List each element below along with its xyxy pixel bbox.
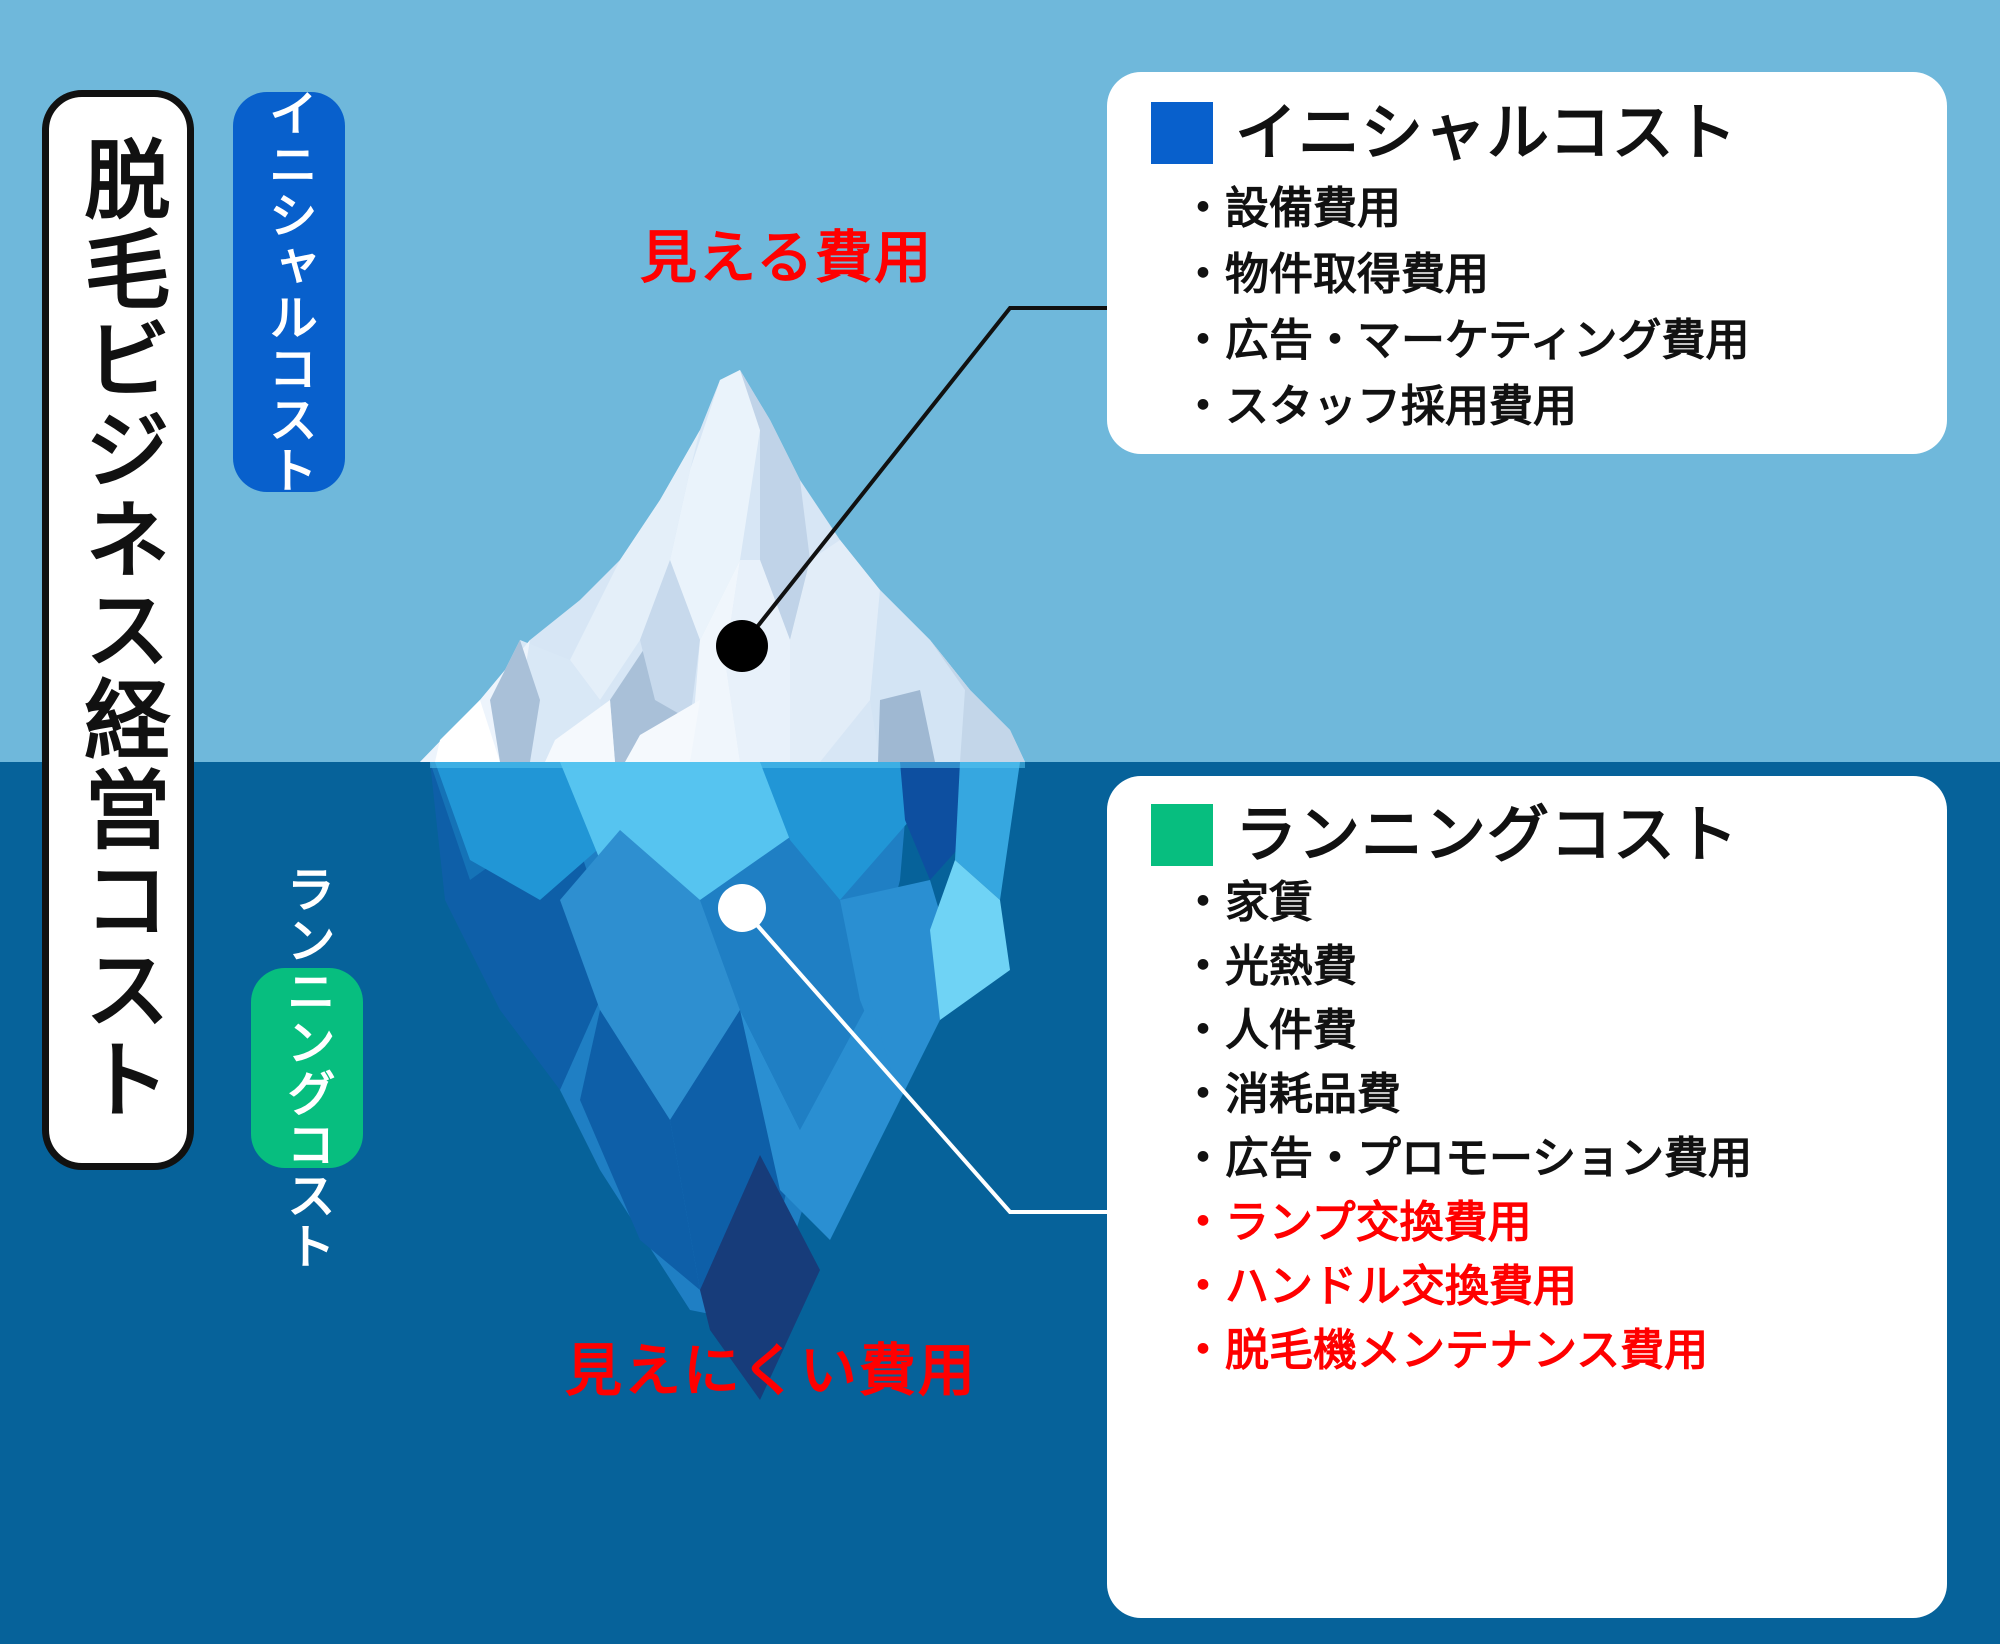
card-running-cost-title: ランニングコスト <box>1235 802 1739 867</box>
card-running-cost: ランニングコスト 家賃光熱費人件費消耗品費広告・プロモーション費用ランプ交換費用… <box>1107 776 1947 1618</box>
card-initial-cost-list: 設備費用物件取得費用広告・マーケティング費用スタッフ採用費用 <box>1151 187 1911 429</box>
label-visible-cost: 見える費用 <box>640 212 933 294</box>
card-initial-cost-header: イニシャルコスト <box>1151 100 1911 165</box>
card-initial-cost: イニシャルコスト 設備費用物件取得費用広告・マーケティング費用スタッフ採用費用 <box>1107 72 1947 454</box>
card-initial-cost-title: イニシャルコスト <box>1235 100 1738 165</box>
list-item: 広告・マーケティング費用 <box>1181 319 1911 363</box>
badge-running-cost: ランニングコスト <box>251 968 363 1168</box>
list-item: 光熱費 <box>1181 945 1911 989</box>
badge-initial-cost-label: イニシャルコスト <box>263 88 314 496</box>
page-title-card: 脱毛ビジネス経営コスト <box>42 90 194 1170</box>
list-item: 設備費用 <box>1181 187 1911 231</box>
label-hidden-cost: 見えにくい費用 <box>565 1325 977 1407</box>
list-item: 脱毛機メンテナンス費用 <box>1181 1329 1911 1373</box>
infographic-canvas: 脱毛ビジネス経営コスト イニシャルコスト ランニングコスト 見える費用 見えにく… <box>0 0 2000 1644</box>
list-item: 消耗品費 <box>1181 1073 1911 1117</box>
card-running-cost-list: 家賃光熱費人件費消耗品費広告・プロモーション費用ランプ交換費用ハンドル交換費用脱… <box>1151 881 1911 1373</box>
list-item: ランプ交換費用 <box>1181 1201 1911 1245</box>
card-running-cost-header: ランニングコスト <box>1151 802 1911 867</box>
square-swatch-icon <box>1151 102 1213 164</box>
list-item: 家賃 <box>1181 881 1911 925</box>
badge-initial-cost: イニシャルコスト <box>233 92 345 492</box>
page-title: 脱毛ビジネス経営コスト <box>74 135 162 1125</box>
list-item: ハンドル交換費用 <box>1181 1265 1911 1309</box>
list-item: 広告・プロモーション費用 <box>1181 1137 1911 1181</box>
list-item: 物件取得費用 <box>1181 253 1911 297</box>
badge-running-cost-label: ランニングコスト <box>281 864 332 1272</box>
square-swatch-icon <box>1151 804 1213 866</box>
list-item: スタッフ採用費用 <box>1181 385 1911 429</box>
list-item: 人件費 <box>1181 1009 1911 1053</box>
